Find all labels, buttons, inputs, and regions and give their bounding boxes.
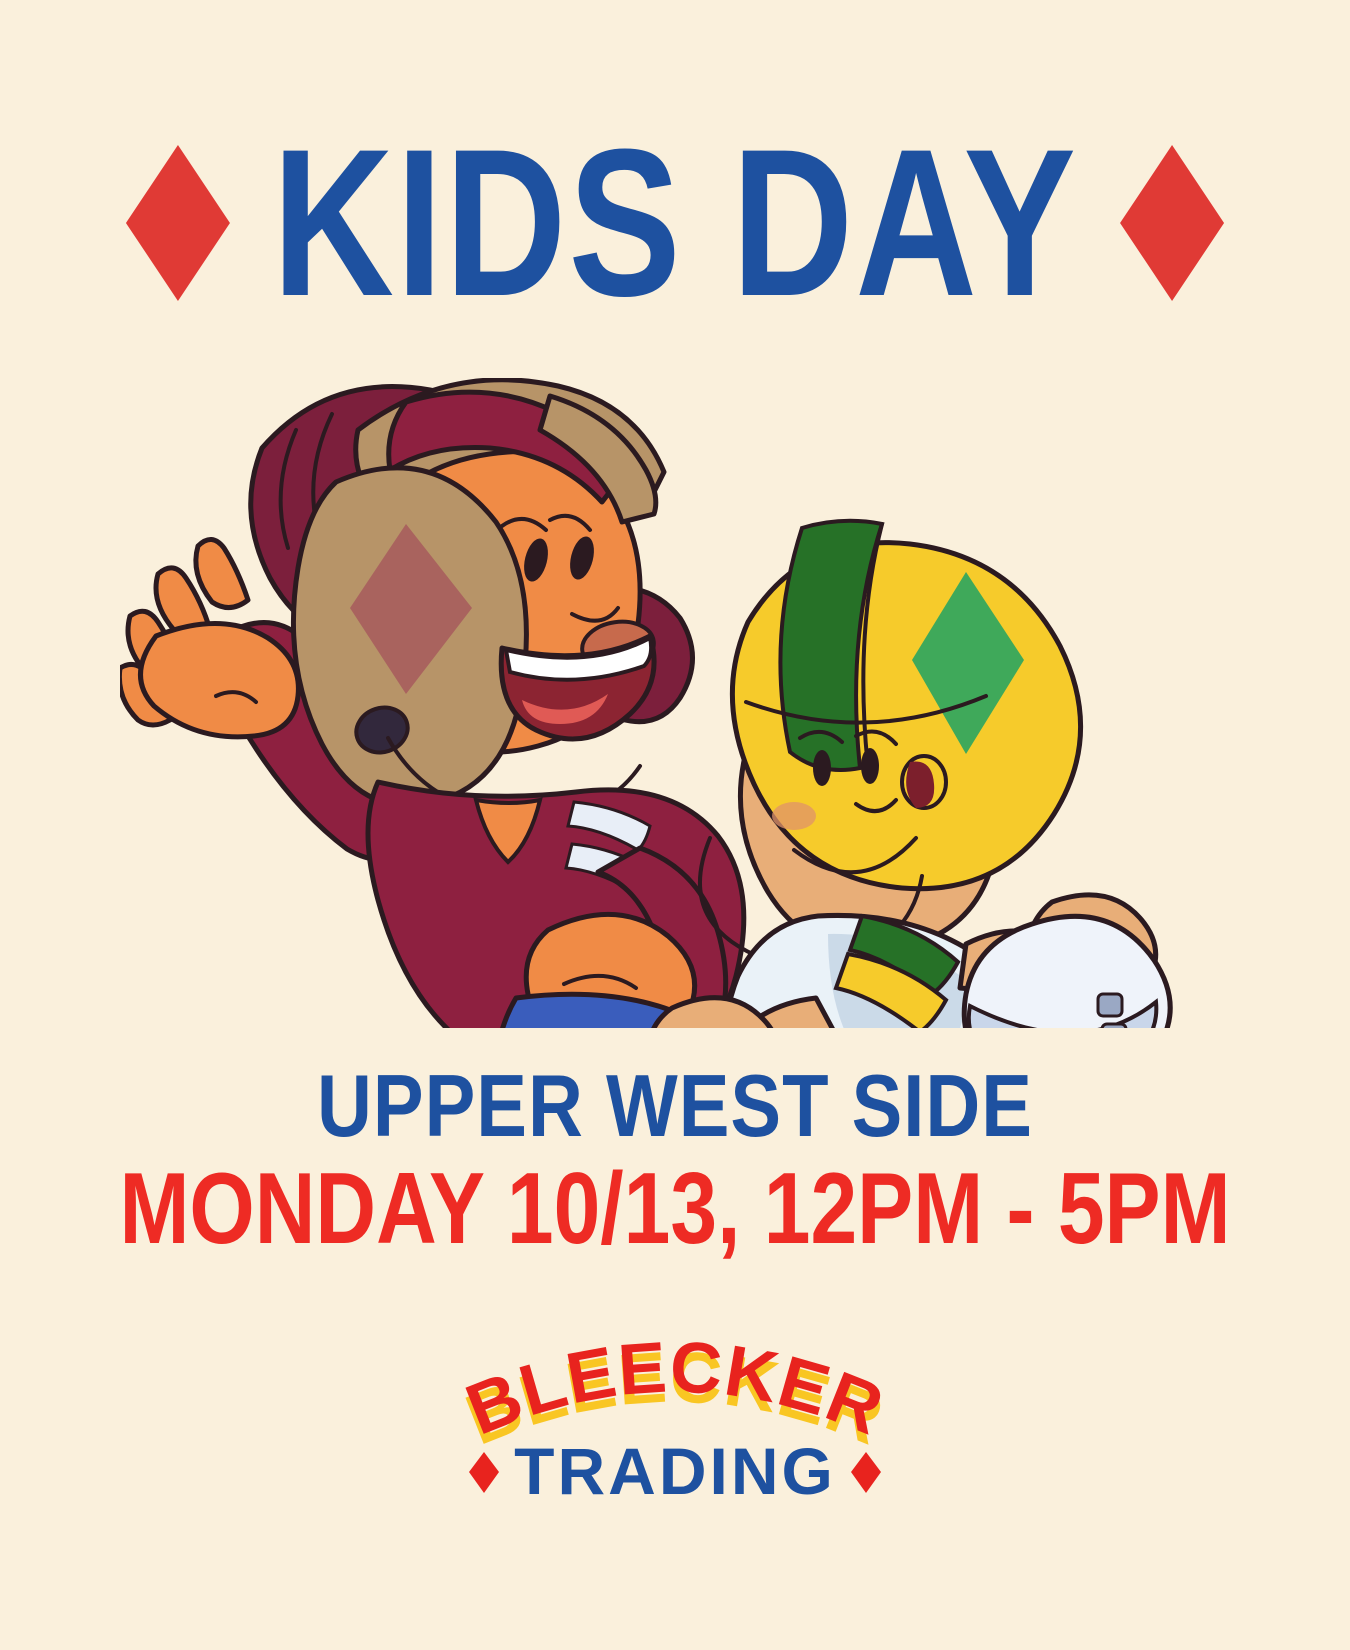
event-datetime: MONDAY 10/13, 12PM - 5PM xyxy=(0,1158,1350,1261)
diamond-left-icon xyxy=(126,145,230,301)
brand-bottom-text: TRADING xyxy=(514,1434,836,1497)
brand-logo: BLEECKER BLEECKER TRADING xyxy=(0,1312,1350,1502)
event-location: UPPER WEST SIDE xyxy=(0,1062,1350,1152)
logo-diamond-right-icon xyxy=(851,1452,881,1493)
brand-top-text: BLEECKER xyxy=(456,1327,895,1450)
left-kid-figure xyxy=(120,380,800,1028)
page-title: KIDS DAY xyxy=(272,118,1078,328)
logo-diamond-left-icon xyxy=(469,1452,499,1493)
event-info: UPPER WEST SIDE MONDAY 10/13, 12PM - 5PM xyxy=(0,1062,1350,1243)
poster-header: KIDS DAY xyxy=(0,118,1350,328)
kids-illustration: .ol { stroke:#2B1A20; stroke-width:5; st… xyxy=(120,378,1180,1028)
poster-canvas: KIDS DAY .ol { stroke:#2B1A20; stroke-wi… xyxy=(0,0,1350,1650)
diamond-right-icon xyxy=(1120,145,1224,301)
